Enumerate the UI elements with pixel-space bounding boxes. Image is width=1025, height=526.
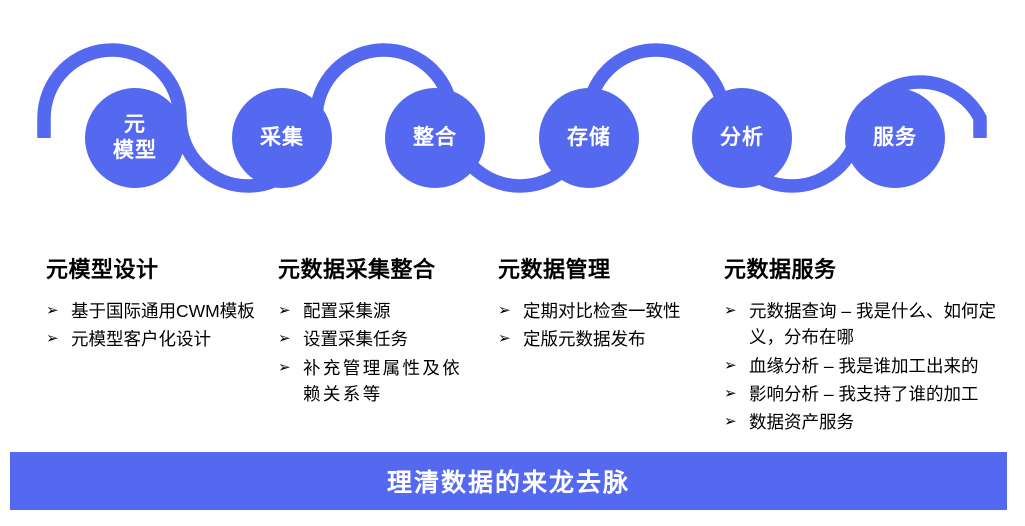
stage-label-line: 服务 xyxy=(873,125,917,151)
bullet-list: ➢ 定期对比检查一致性 ➢ 定版元数据发布 xyxy=(498,298,698,353)
bullet-list: ➢ 配置采集源 ➢ 设置采集任务 ➢ 补充管理属性及依赖关系等 xyxy=(278,298,478,407)
bullet-arrow-icon: ➢ xyxy=(278,326,291,352)
detail-column-metadata-collection-integration: 元数据采集整合 ➢ 配置采集源 ➢ 设置采集任务 ➢ 补充管理属性及依赖关系等 xyxy=(278,252,478,409)
stage-node-collect[interactable]: 采集 xyxy=(232,88,332,188)
bullet-text: 定期对比检查一致性 xyxy=(523,298,698,324)
stage-node-storage[interactable]: 存储 xyxy=(539,88,639,188)
bullet-text: 元模型客户化设计 xyxy=(71,326,276,352)
detail-column-metadata-management: 元数据管理 ➢ 定期对比检查一致性 ➢ 定版元数据发布 xyxy=(498,252,698,355)
bullet-text: 元数据查询 – 我是什么、如何定义，分布在哪 xyxy=(749,298,1024,351)
stage-label-line: 模型 xyxy=(113,138,157,164)
bullet-item: ➢ 设置采集任务 xyxy=(278,326,478,352)
bullet-item: ➢ 血缘分析 – 我是谁加工出来的 xyxy=(724,353,1024,379)
stage-label-line: 存储 xyxy=(567,125,611,151)
bullet-arrow-icon: ➢ xyxy=(724,353,737,379)
bullet-item: ➢ 定期对比检查一致性 xyxy=(498,298,698,324)
bullet-text: 补充管理属性及依赖关系等 xyxy=(303,355,478,408)
stage-label-line: 分析 xyxy=(720,125,764,151)
wave-stroke xyxy=(44,50,980,186)
column-heading: 元数据采集整合 xyxy=(278,252,478,284)
bottom-banner: 理清数据的来龙去脉 xyxy=(10,452,1007,510)
bullet-item: ➢ 数据资产服务 xyxy=(724,409,1024,435)
bullet-item: ➢ 元数据查询 – 我是什么、如何定义，分布在哪 xyxy=(724,298,1024,351)
bullet-text: 数据资产服务 xyxy=(749,409,1024,435)
bullet-item: ➢ 元模型客户化设计 xyxy=(46,326,276,352)
bullet-list: ➢ 元数据查询 – 我是什么、如何定义，分布在哪 ➢ 血缘分析 – 我是谁加工出… xyxy=(724,298,1024,435)
bullet-item: ➢ 配置采集源 xyxy=(278,298,478,324)
bullet-text: 血缘分析 – 我是谁加工出来的 xyxy=(749,353,1024,379)
bullet-arrow-icon: ➢ xyxy=(498,326,511,352)
bullet-item: ➢ 定版元数据发布 xyxy=(498,326,698,352)
detail-column-metadata-service: 元数据服务 ➢ 元数据查询 – 我是什么、如何定义，分布在哪 ➢ 血缘分析 – … xyxy=(724,252,1024,437)
bullet-text: 影响分析 – 我支持了谁的加工 xyxy=(749,381,1024,407)
bullet-arrow-icon: ➢ xyxy=(724,409,737,435)
bullet-arrow-icon: ➢ xyxy=(46,298,59,324)
bullet-arrow-icon: ➢ xyxy=(46,326,59,352)
detail-columns: 元模型设计 ➢ 基于国际通用CWM模板 ➢ 元模型客户化设计 元数据采集整合 ➢… xyxy=(0,252,1025,448)
column-heading: 元模型设计 xyxy=(46,252,276,284)
stage-label-line: 元 xyxy=(124,112,146,138)
stage-node-analysis[interactable]: 分析 xyxy=(692,88,792,188)
bullet-text: 设置采集任务 xyxy=(303,326,478,352)
stage-node-service[interactable]: 服务 xyxy=(845,88,945,188)
bullet-text: 定版元数据发布 xyxy=(523,326,698,352)
bullet-arrow-icon: ➢ xyxy=(724,381,737,407)
bullet-text: 基于国际通用CWM模板 xyxy=(71,298,276,324)
bullet-list: ➢ 基于国际通用CWM模板 ➢ 元模型客户化设计 xyxy=(46,298,276,353)
stage-label-line: 整合 xyxy=(413,125,457,151)
column-heading: 元数据服务 xyxy=(724,252,1024,284)
detail-column-meta-model-design: 元模型设计 ➢ 基于国际通用CWM模板 ➢ 元模型客户化设计 xyxy=(46,252,276,355)
column-heading: 元数据管理 xyxy=(498,252,698,284)
flow-diagram: 元 模型 采集 整合 存储 分析 服务 xyxy=(0,0,1025,250)
bullet-text: 配置采集源 xyxy=(303,298,478,324)
bullet-item: ➢ 影响分析 – 我支持了谁的加工 xyxy=(724,381,1024,407)
bullet-item: ➢ 补充管理属性及依赖关系等 xyxy=(278,355,478,408)
bottom-banner-text: 理清数据的来龙去脉 xyxy=(387,463,630,499)
stage-node-integrate[interactable]: 整合 xyxy=(385,88,485,188)
bullet-arrow-icon: ➢ xyxy=(278,355,291,381)
bullet-item: ➢ 基于国际通用CWM模板 xyxy=(46,298,276,324)
bullet-arrow-icon: ➢ xyxy=(498,298,511,324)
bullet-arrow-icon: ➢ xyxy=(278,298,291,324)
stage-node-meta-model[interactable]: 元 模型 xyxy=(85,88,185,188)
stage-label-line: 采集 xyxy=(260,125,304,151)
bullet-arrow-icon: ➢ xyxy=(724,298,737,324)
